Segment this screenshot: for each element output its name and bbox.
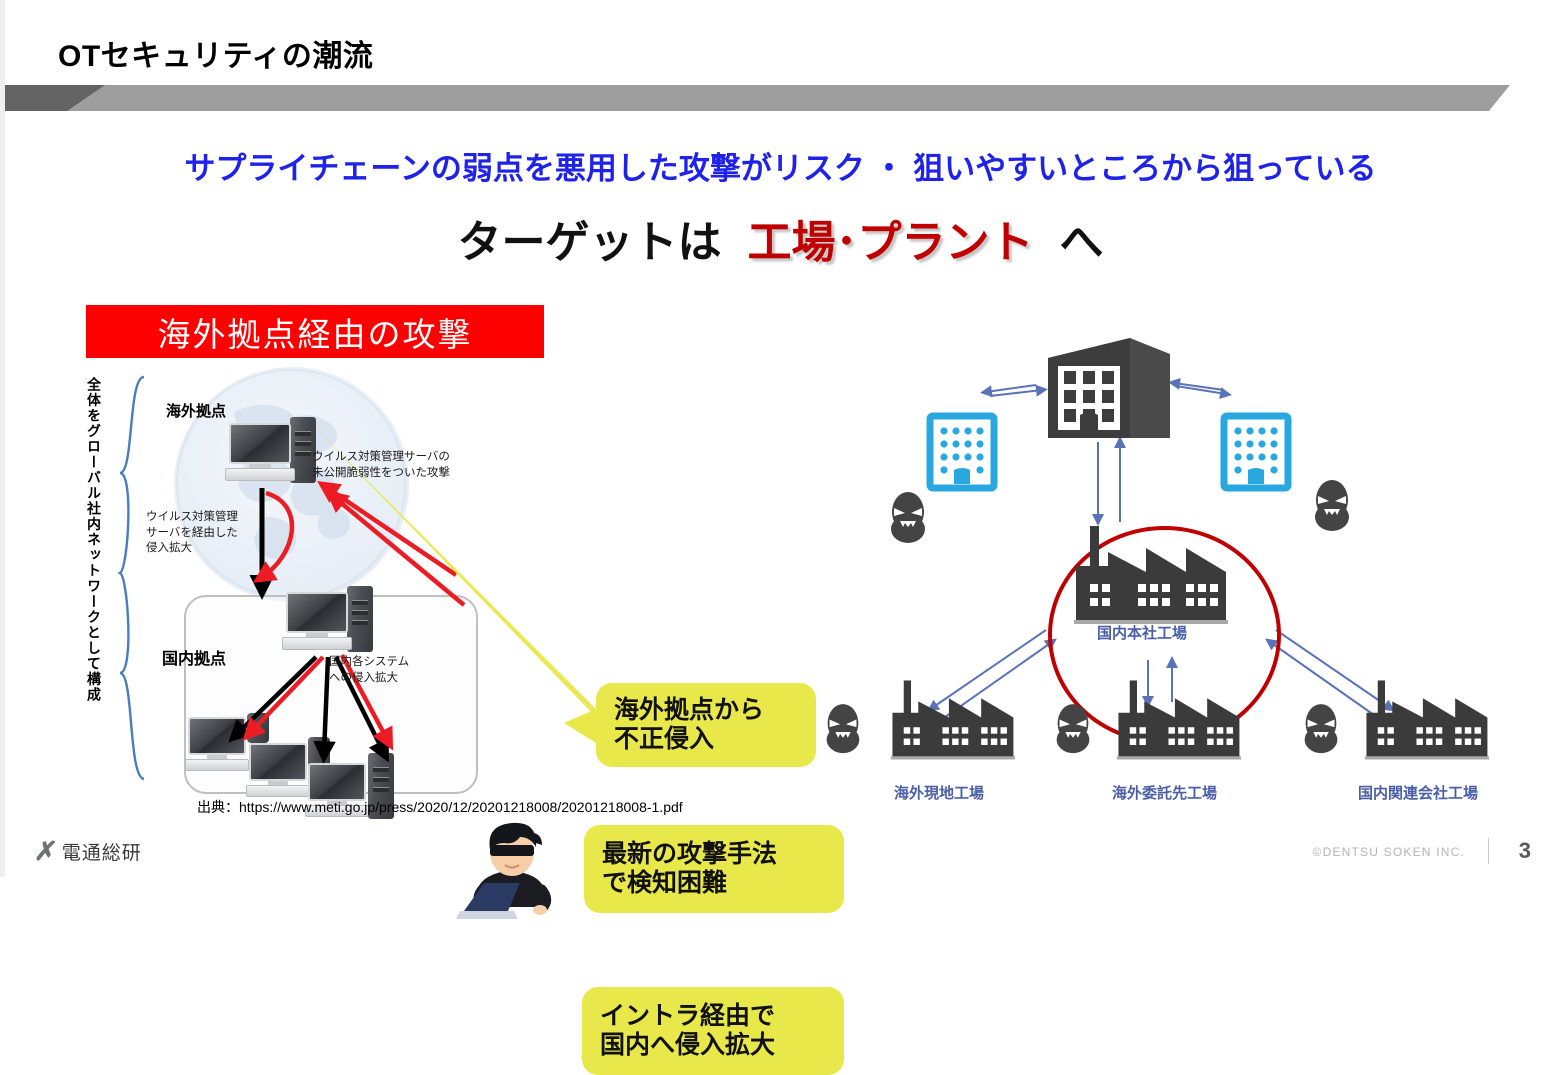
supply-chain-attack-diagram: 国内本社工場 海外現地工場 (790, 330, 1550, 820)
office-building-right-icon (1220, 412, 1292, 492)
headline-prefix: ターゲットは (458, 218, 722, 267)
hacker-icon-factory-1 (818, 702, 868, 760)
pc-gateway (286, 592, 348, 654)
hacker-icon-factory-2 (1048, 702, 1098, 760)
domestic-affiliate-factory-icon (1360, 680, 1510, 768)
note-via-server: ウイルス対策管理 サーバを経由した 侵入拡大 (146, 510, 238, 557)
network-scope-vertical-label: 全体をグローバル社内ネットワークとして構成 (87, 377, 101, 777)
note-domestic-spread: 国内各システム への侵入拡大 (329, 655, 409, 686)
pc-keyboard (185, 759, 250, 771)
office-building-left-icon (926, 412, 998, 492)
note-server-attack: ウイルス対策管理サーバの 未公開脆弱性をついた攻撃 (312, 450, 450, 481)
callout-label: 最新の攻撃手法 で検知困難 (602, 840, 777, 899)
pc-monitor (229, 423, 291, 464)
headline-accent: 工場･プラント (748, 218, 1034, 267)
slide-left-rail (0, 0, 5, 877)
callout-label: 海外拠点から 不正侵入 (614, 696, 764, 755)
page-title: OTセキュリティの潮流 (58, 31, 373, 75)
pc-overseas (229, 423, 291, 485)
overseas-site-label: 海外拠点 (166, 400, 226, 421)
pc-monitor (308, 763, 366, 801)
headline-blue: サプライチェーンの弱点を悪用した攻撃がリスク ・ 狙いやすいところから狙っている (0, 143, 1561, 188)
server-tower-d1 (247, 713, 269, 743)
headline-black: ターゲットは工場･プラントへ (0, 206, 1561, 270)
pc-keyboard (225, 468, 294, 480)
hacker-illustration-icon (450, 815, 570, 925)
page-number: 3 (1519, 838, 1531, 864)
overseas-contract-factory-icon (1112, 680, 1262, 768)
red-banner: 海外拠点経由の攻撃 (86, 305, 544, 358)
callout-label: イントラ経由で 国内へ侵入拡大 (600, 1002, 775, 1061)
hacker-icon-factory-3 (1296, 702, 1346, 760)
company-logo: ✗ 電通総研 (35, 836, 142, 867)
pc-monitor (188, 717, 246, 755)
callout-detection-difficult: 最新の攻撃手法 で検知困難 (584, 825, 844, 913)
logo-text: 電通総研 (62, 838, 142, 865)
header-divider-band (5, 85, 1510, 111)
pc-domestic-1 (188, 717, 246, 775)
factory-label-2: 海外委託先工場 (1112, 782, 1217, 803)
footer-divider (1488, 838, 1489, 864)
headquarters-building-icon (1038, 330, 1180, 450)
pc-keyboard (282, 637, 351, 649)
domestic-hq-factory-icon (1068, 526, 1254, 634)
scope-brace-icon (110, 373, 150, 793)
callout-unauthorized-intrusion: 海外拠点から 不正侵入 (596, 683, 816, 767)
callout-intranet-spread: イントラ経由で 国内へ侵入拡大 (582, 987, 844, 1075)
overseas-local-factory-icon (886, 680, 1036, 768)
center-factory-label: 国内本社工場 (1097, 622, 1187, 643)
copyright-text: ©DENTSU SOKEN INC. (1313, 845, 1465, 859)
pc-domestic-2 (249, 743, 307, 801)
overseas-attack-diagram: 海外拠点経由の攻撃 全体をグローバル社内ネットワークとして構成 海外拠点 国内拠… (84, 305, 774, 825)
factory-label-1: 海外現地工場 (894, 782, 984, 803)
domestic-site-label: 国内拠点 (162, 645, 226, 669)
pc-keyboard (246, 785, 311, 797)
red-banner-label: 海外拠点経由の攻撃 (158, 308, 473, 356)
pc-monitor (286, 592, 348, 633)
logo-mark-icon: ✗ (33, 836, 59, 867)
headline-suffix: へ (1060, 218, 1104, 267)
hacker-icon-overseas-right (1306, 478, 1358, 538)
slide-canvas: OTセキュリティの潮流 サプライチェーンの弱点を悪用した攻撃がリスク ・ 狙いや… (0, 0, 1561, 877)
factory-label-3: 国内関連会社工場 (1358, 782, 1478, 803)
hacker-icon-overseas-left (882, 490, 934, 550)
source-citation: 出典：https://www.meti.go.jp/press/2020/12/… (197, 797, 683, 817)
pc-monitor (249, 743, 307, 781)
